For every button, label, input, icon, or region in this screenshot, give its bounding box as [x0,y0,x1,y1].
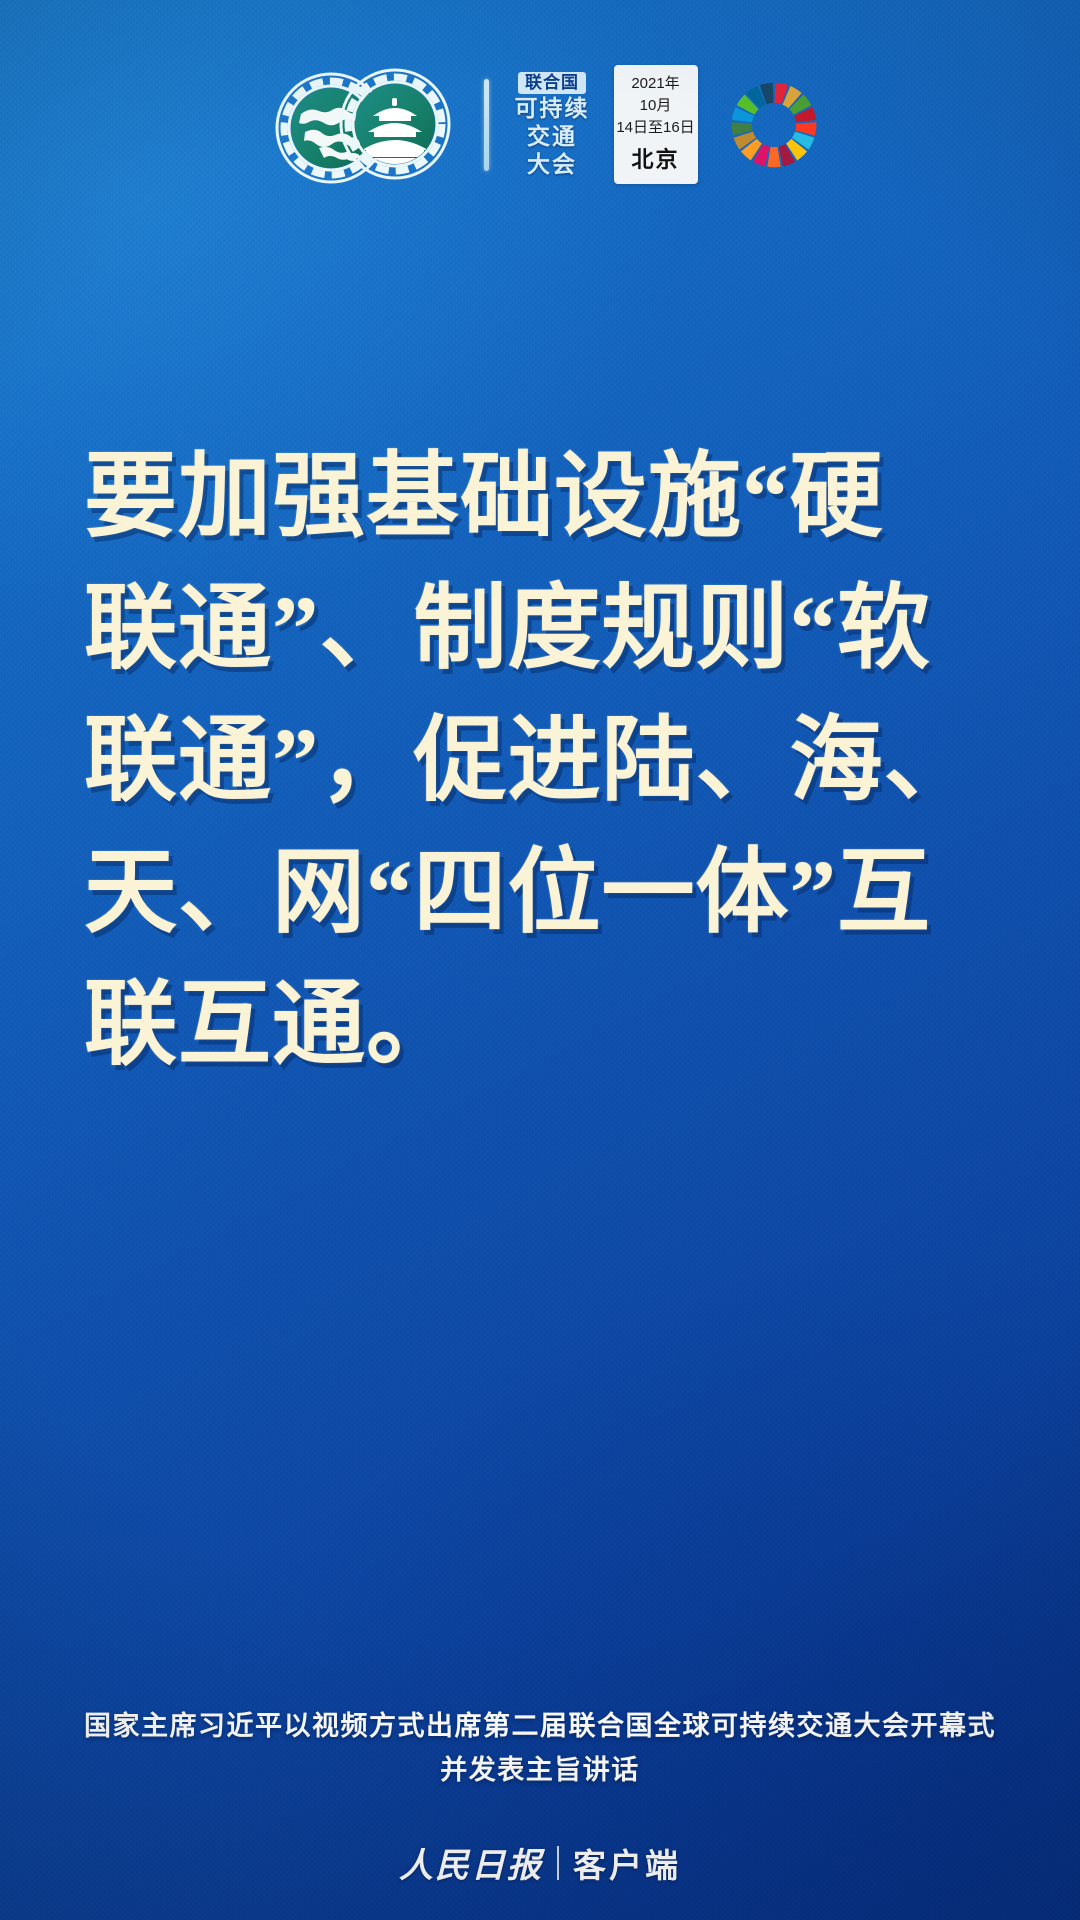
caption-block: 国家主席习近平以视频方式出席第二届联合国全球可持续交通大会开幕式 并发表主旨讲话 [0,1705,1080,1792]
publisher-app-name: 客户端 [573,1839,681,1887]
poster-canvas: 联合国 可持续 交通 大会 2021年 10月 14日至16日 北京 要加强基础… [0,0,1080,1920]
caption-line: 并发表主旨讲话 [0,1749,1080,1793]
quote-line: 要加强基础设施“硬 [84,432,964,564]
quote-line: 联通”、制度规则“软 [84,564,964,696]
conference-name-block: 联合国 可持续 交通 大会 [515,72,590,178]
conference-line-1: 可持续 [515,96,590,122]
conference-organizer-label: 联合国 [518,72,586,95]
publisher-separator-icon [557,1846,559,1880]
caption-line: 国家主席习近平以视频方式出席第二届联合国全球可持续交通大会开幕式 [0,1705,1080,1749]
quote-text: 要加强基础设施“硬 联通”、制度规则“软 联通”，促进陆、海、 天、网“四位一体… [84,432,964,1092]
date-month: 10月 [640,95,672,117]
quote-line: 联互通。 [84,960,964,1092]
conference-line-3: 大会 [527,152,577,178]
conference-date-box: 2021年 10月 14日至16日 北京 [614,65,698,183]
publisher-logo: 人民日报 客户端 [0,1838,1080,1887]
sdg-color-wheel-icon [728,79,820,171]
header-divider-icon [484,79,489,171]
date-city: 北京 [631,142,679,174]
un-sustainable-transport-conference-emblem-icon [261,62,466,187]
date-days: 14日至16日 [616,117,694,139]
header-band: 联合国 可持续 交通 大会 2021年 10月 14日至16日 北京 [0,62,1080,187]
conference-line-2: 交通 [527,124,577,150]
publisher-name: 人民日报 [399,1838,543,1887]
quote-line: 联通”，促进陆、海、 [84,696,964,828]
quote-line: 天、网“四位一体”互 [84,828,964,960]
date-year: 2021年 [631,73,679,95]
